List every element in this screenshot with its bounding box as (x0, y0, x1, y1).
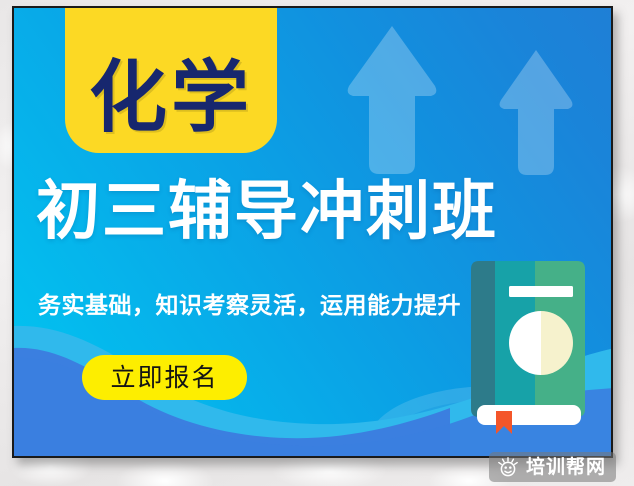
page-title: 初三辅导冲刺班 (36, 180, 498, 244)
subject-badge: 化学 (65, 8, 277, 153)
subject-badge-label: 化学 (89, 59, 253, 137)
banner-background: 化学 初三辅导冲刺班 务实基础，知识考察灵活，运用能力提升 立即报名 (14, 8, 611, 456)
banner-frame: 化学 初三辅导冲刺班 务实基础，知识考察灵活，运用能力提升 立即报名 (12, 6, 613, 458)
banner-page: 化学 初三辅导冲刺班 务实基础，知识考察灵活，运用能力提升 立即报名 (0, 0, 634, 486)
book-icon (471, 259, 585, 434)
up-arrow-icon (497, 48, 575, 178)
watermark: 培训帮网 (489, 452, 616, 482)
watermark-label: 培训帮网 (526, 458, 606, 477)
page-subtitle: 务实基础，知识考察灵活，运用能力提升 (38, 295, 461, 318)
enroll-now-button[interactable]: 立即报名 (82, 355, 247, 400)
up-arrow-icon (345, 24, 439, 176)
sun-face-icon (497, 457, 519, 477)
